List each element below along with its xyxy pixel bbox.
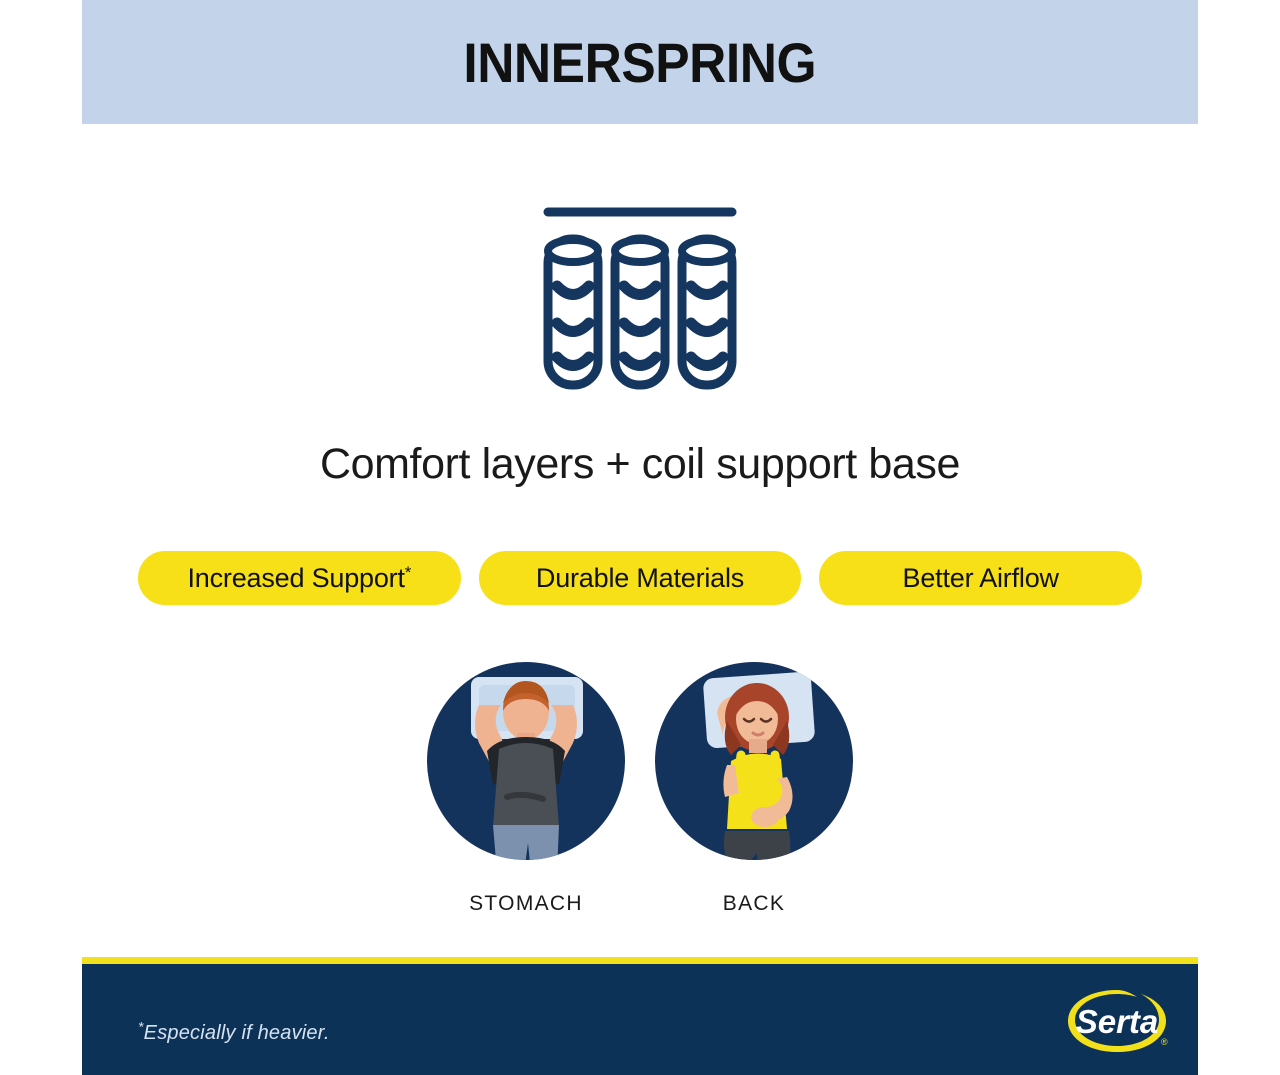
tagline: Comfort layers + coil support base	[0, 440, 1280, 489]
sleep-positions: STOMACH	[0, 655, 1280, 916]
pill-label: Better Airflow	[903, 563, 1059, 594]
footer-accent-bar	[82, 957, 1198, 964]
serta-logo[interactable]: Serta ®	[1062, 982, 1172, 1058]
serta-wordmark: Serta	[1076, 1003, 1159, 1040]
coil-2	[615, 239, 665, 385]
sleep-position-back[interactable]: BACK	[654, 655, 854, 916]
coil-icon-container	[0, 180, 1280, 410]
coil-springs-icon	[540, 189, 740, 401]
footnote-text: Especially if heavier.	[144, 1022, 330, 1044]
feature-pills: Increased Support* Durable Materials Bet…	[138, 551, 1142, 605]
pill-label: Increased Support	[188, 563, 405, 594]
feature-pill-durable-materials[interactable]: Durable Materials	[479, 551, 802, 605]
pill-label: Durable Materials	[536, 563, 744, 594]
feature-pill-better-airflow[interactable]: Better Airflow	[819, 551, 1142, 605]
registered-mark: ®	[1161, 1037, 1168, 1047]
feature-pill-increased-support[interactable]: Increased Support*	[138, 551, 461, 605]
stomach-sleeper-illustration	[427, 655, 625, 867]
footer: *Especially if heavier. Serta ®	[82, 964, 1198, 1075]
coil-1	[548, 239, 598, 385]
sleep-position-label-stomach: STOMACH	[469, 892, 583, 916]
footnote: *Especially if heavier.	[138, 1022, 330, 1045]
back-sleeper-illustration	[655, 655, 853, 867]
header-band: INNERSPRING	[82, 0, 1198, 124]
sleep-position-stomach[interactable]: STOMACH	[426, 655, 626, 916]
coil-3	[682, 239, 732, 385]
infographic-page: INNERSPRING	[0, 0, 1280, 1075]
page-title: INNERSPRING	[464, 30, 817, 95]
sleep-position-label-back: BACK	[723, 892, 785, 916]
